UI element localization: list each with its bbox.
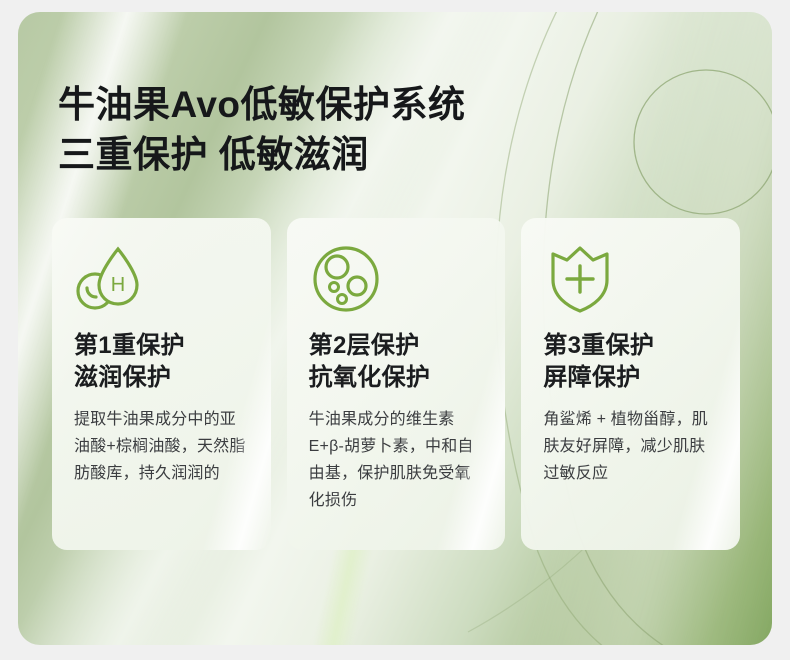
card-title-line-1: 第2层保护 xyxy=(309,332,420,359)
card-body-text: 角鲨烯 + 植物甾醇，肌肤友好屏障，减少肌肤过敏反应 xyxy=(543,406,718,487)
card-title: 第3重保护 屏障保护 xyxy=(543,330,718,394)
card-body-text: 提取牛油果成分中的亚油酸+棕榈油酸，天然脂肪酸库，持久润润的 xyxy=(74,406,249,487)
card-title-line-2: 屏障保护 xyxy=(543,362,718,394)
banner-headline: 牛油果Avo低敏保护系统 三重保护 低敏滋润 xyxy=(58,80,466,180)
svg-text:H: H xyxy=(111,274,125,296)
promo-panel: 牛油果Avo低敏保护系统 三重保护 低敏滋润 H 第1重保护 滋润保护 xyxy=(18,12,772,645)
headline-line-1: 牛油果Avo低敏保护系统 xyxy=(58,80,466,130)
benefit-card[interactable]: H 第1重保护 滋润保护 提取牛油果成分中的亚油酸+棕榈油酸，天然脂肪酸库，持久… xyxy=(52,218,271,550)
benefit-card[interactable]: 第2层保护 抗氧化保护 牛油果成分的维生素E+β-胡萝卜素，中和自由基，保护肌肤… xyxy=(287,218,506,550)
card-title-line-2: 抗氧化保护 xyxy=(309,362,484,394)
card-title-line-1: 第3重保护 xyxy=(543,332,654,359)
promo-banner-stage: 牛油果Avo低敏保护系统 三重保护 低敏滋润 H 第1重保护 滋润保护 xyxy=(0,0,790,660)
benefit-card-list: H 第1重保护 滋润保护 提取牛油果成分中的亚油酸+棕榈油酸，天然脂肪酸库，持久… xyxy=(52,218,740,550)
headline-line-2: 三重保护 低敏滋润 xyxy=(58,130,466,180)
card-title-line-2: 滋润保护 xyxy=(74,362,249,394)
water-drop-h-icon: H xyxy=(74,244,249,314)
card-title: 第2层保护 抗氧化保护 xyxy=(309,330,484,394)
card-title-line-1: 第1重保护 xyxy=(74,332,185,359)
antioxidant-bubbles-icon xyxy=(309,244,484,314)
shield-plus-icon xyxy=(543,244,718,314)
card-body-text: 牛油果成分的维生素E+β-胡萝卜素，中和自由基，保护肌肤免受氧化损伤 xyxy=(309,406,484,514)
benefit-card[interactable]: 第3重保护 屏障保护 角鲨烯 + 植物甾醇，肌肤友好屏障，减少肌肤过敏反应 xyxy=(521,218,740,550)
card-title: 第1重保护 滋润保护 xyxy=(74,330,249,394)
